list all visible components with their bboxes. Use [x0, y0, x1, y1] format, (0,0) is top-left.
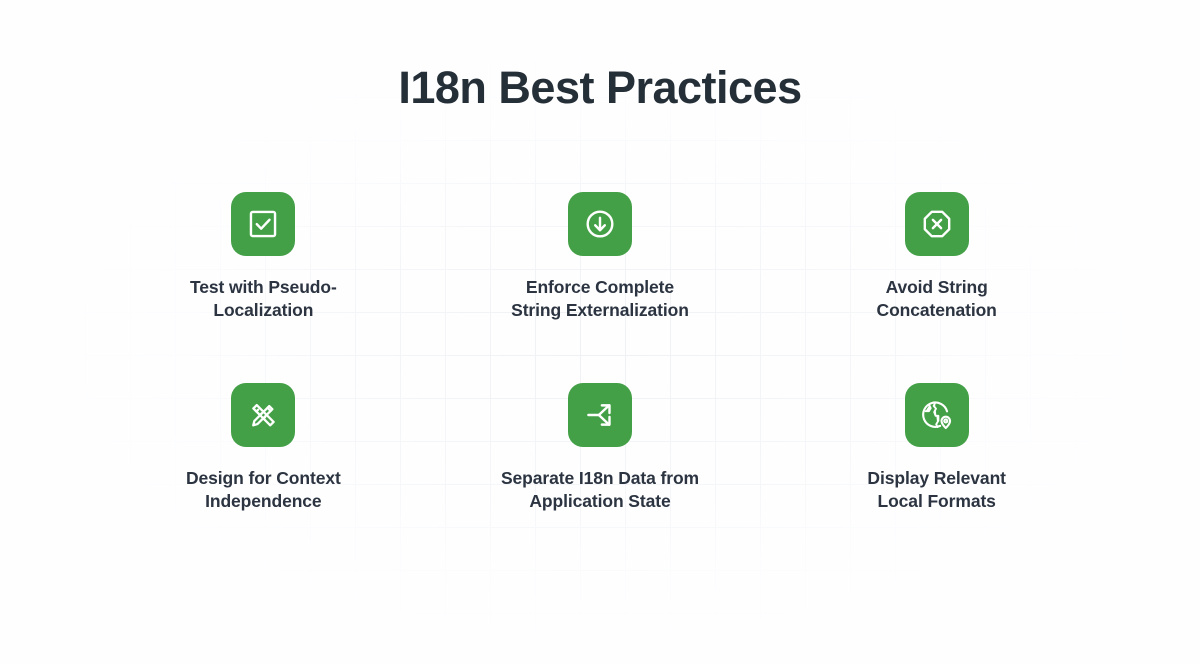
globe-pin-icon — [920, 398, 954, 432]
practice-item-4[interactable]: Design for Context Independence — [143, 383, 383, 574]
slide-content: I18n Best Practices Test with Pseudo- Lo… — [0, 0, 1200, 664]
icon-tile-2 — [568, 192, 632, 256]
practice-label-4: Design for Context Independence — [186, 467, 341, 514]
split-arrows-icon — [583, 398, 617, 432]
practice-label-1: Test with Pseudo- Localization — [190, 276, 337, 323]
icon-tile-6 — [905, 383, 969, 447]
practice-item-5[interactable]: Separate I18n Data from Application Stat… — [480, 383, 720, 574]
arrow-down-circle-icon — [583, 207, 617, 241]
icon-tile-3 — [905, 192, 969, 256]
practice-item-2[interactable]: Enforce Complete String Externalization — [480, 192, 720, 383]
practice-item-1[interactable]: Test with Pseudo- Localization — [143, 192, 383, 383]
checkbox-check-icon — [246, 207, 280, 241]
icon-tile-1 — [231, 192, 295, 256]
practice-item-6[interactable]: Display Relevant Local Formats — [817, 383, 1057, 574]
pencil-ruler-cross-icon — [246, 398, 280, 432]
practice-label-6: Display Relevant Local Formats — [867, 467, 1005, 514]
practice-label-3: Avoid String Concatenation — [877, 276, 997, 323]
best-practices-grid: Test with Pseudo- Localization Enforce C… — [95, 192, 1105, 574]
slide-canvas: I18n Best Practices Test with Pseudo- Lo… — [0, 0, 1200, 664]
x-octagon-icon — [920, 207, 954, 241]
icon-tile-5 — [568, 383, 632, 447]
page-title: I18n Best Practices — [398, 62, 801, 114]
practice-label-2: Enforce Complete String Externalization — [511, 276, 689, 323]
practice-item-3[interactable]: Avoid String Concatenation — [817, 192, 1057, 383]
practice-label-5: Separate I18n Data from Application Stat… — [501, 467, 699, 514]
icon-tile-4 — [231, 383, 295, 447]
